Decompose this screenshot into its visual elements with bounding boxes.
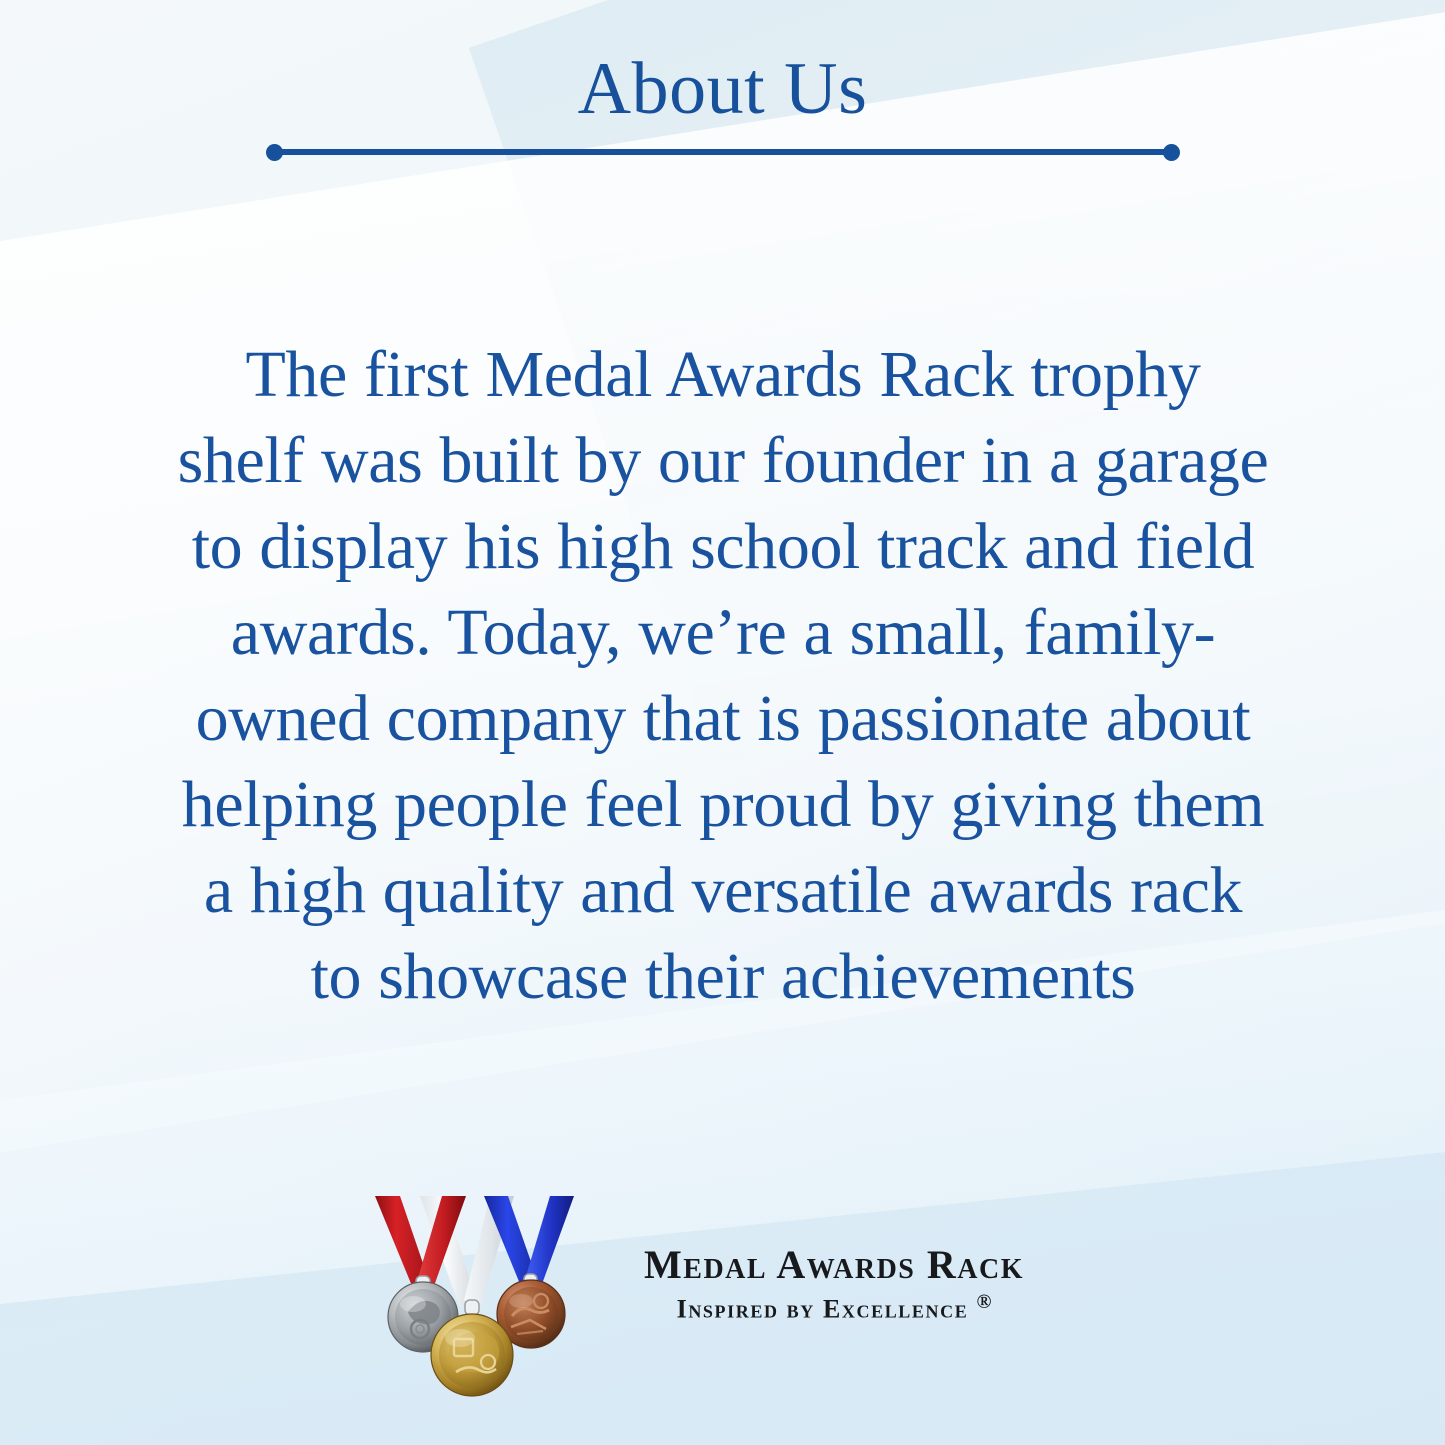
page-title: About Us bbox=[0, 0, 1445, 126]
paragraph-line: The first Medal Awards Rack trophy bbox=[118, 332, 1328, 418]
brand-logo: Medal Awards Rack Inspired by Excellence… bbox=[372, 1196, 1084, 1432]
paragraph-line: a high quality and versatile awards rack bbox=[118, 848, 1328, 934]
paragraph-line: shelf was built by our founder in a gara… bbox=[118, 418, 1328, 504]
paragraph-line: helping people feel proud by giving them bbox=[118, 762, 1328, 848]
about-us-slide: About Us The first Medal Awards Rack tro… bbox=[0, 0, 1445, 1445]
logo-wordmark: Medal Awards Rack Inspired by Excellence… bbox=[584, 1244, 1084, 1323]
logo-tagline-text: Inspired by Excellence bbox=[677, 1295, 969, 1324]
logo-tagline: Inspired by Excellence ® bbox=[584, 1292, 1084, 1323]
divider-rule bbox=[274, 149, 1172, 155]
paragraph-line: owned company that is passionate about bbox=[118, 676, 1328, 762]
registered-mark-icon: ® bbox=[976, 1291, 991, 1313]
logo-company-name: Medal Awards Rack bbox=[584, 1244, 1084, 1286]
divider-right-dot-icon bbox=[1163, 144, 1180, 161]
medals-svg bbox=[372, 1196, 584, 1432]
paragraph-line: to display his high school track and fie… bbox=[118, 504, 1328, 590]
paragraph-line: to showcase their achievements bbox=[118, 934, 1328, 1020]
title-divider bbox=[268, 147, 1178, 155]
paragraph-line: awards. Today, we’re a small, family- bbox=[118, 590, 1328, 676]
about-paragraph: The first Medal Awards Rack trophy shelf… bbox=[118, 332, 1328, 1020]
medals-graphic bbox=[372, 1196, 584, 1432]
header: About Us bbox=[0, 0, 1445, 126]
